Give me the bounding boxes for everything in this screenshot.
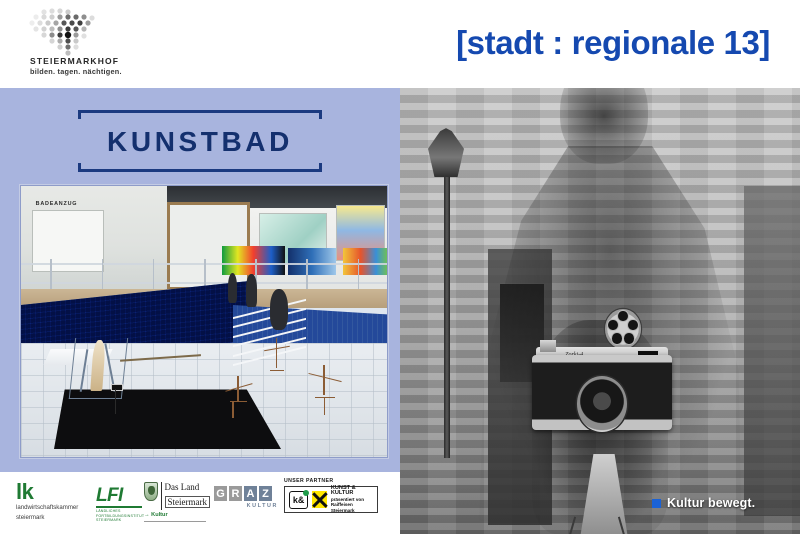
page-header: STEIERMARKHOF bilden. tagen. nächtigen. … (0, 0, 800, 88)
graz-letter-boxes: G R A Z (214, 486, 278, 501)
railing-post (102, 259, 104, 292)
lfi-rule (96, 506, 142, 508)
kunst-und-kultur-mark: k& (289, 491, 308, 509)
raiffeisen-gable-cross-icon (312, 491, 327, 508)
lk-wordmark: lk (16, 482, 102, 502)
logo-wordmark: STEIERMARKHOF (30, 56, 119, 66)
visitor-figure (246, 274, 257, 307)
camera-turret-viewfinder-icon (605, 309, 641, 349)
vintage-camera: Zorki-4 (532, 320, 672, 454)
visitor-figure (270, 289, 288, 330)
graz-letter-r: R (229, 486, 242, 501)
partner-box: k& KUNST & KULTUR präsentiert von Raiffe… (284, 486, 378, 513)
bird-sculpture (222, 376, 255, 419)
music-stand (111, 384, 121, 414)
partner-line-3: Raiffeisen Steiermark (331, 502, 373, 513)
styrian-panther-crest-icon (144, 482, 158, 501)
blue-square-icon (652, 499, 661, 508)
steiermarkhof-logo: STEIERMARKHOF bilden. tagen. nächtigen. (24, 6, 136, 80)
bird-sculpture (263, 338, 292, 387)
heading-rule-bottom (78, 169, 322, 172)
camera-lens-icon (577, 376, 627, 432)
graz-letter-g: G (214, 486, 227, 501)
poster-page: STEIERMARKHOF bilden. tagen. nächtigen. … (0, 0, 800, 534)
logo-graz-kultur: G R A Z KULTUR (214, 486, 278, 520)
partner-line-1: KUNST & KULTUR (331, 486, 373, 497)
left-blue-panel: KUNSTBAD BADEANZUG (0, 88, 400, 472)
heading-cap-bottom-left (78, 163, 81, 172)
camera-model-name: Zorki-4 (565, 352, 623, 354)
land-kultur-label: → Kultur (144, 512, 210, 518)
land-rule (144, 521, 206, 522)
heading-cap-bottom-right (319, 163, 322, 172)
logo-das-land-steiermark: Das Land Steiermark → Kultur (144, 482, 210, 524)
land-logo-row: Das Land Steiermark (144, 482, 210, 510)
pool-photo-content: BADEANZUG (21, 186, 387, 457)
graz-kultur-label: KULTUR (214, 503, 278, 509)
railing-post (153, 259, 155, 292)
kultur-bewegt-label: Kultur bewegt. (667, 496, 755, 510)
dot-matrix-styria-map-icon (24, 6, 136, 56)
railing-post (50, 259, 52, 292)
footer-sponsor-bar: lk landwirtschaftskammer steiermark LFI … (0, 472, 400, 534)
land-line-1: Das Land (165, 482, 211, 492)
railing-post (306, 259, 308, 292)
kunstbad-heading: KUNSTBAD (78, 110, 322, 172)
graz-letter-z: Z (259, 486, 272, 501)
kultur-bewegt-badge: Kultur bewegt. (652, 494, 755, 512)
land-line-2: Steiermark (165, 496, 211, 508)
camera-rewind-dial (540, 340, 555, 352)
kunstbad-pool-photo: BADEANZUG (20, 185, 388, 458)
page-title: [stadt : regionale 13] (440, 18, 770, 68)
logo-landwirtschaftskammer: lk landwirtschaftskammer steiermark (16, 482, 102, 524)
lk-subline-1: landwirtschaftskammer (16, 504, 102, 512)
railing-post (358, 259, 360, 292)
logo-unser-partner: UNSER PARTNER k& KUNST & KULTUR präsenti… (284, 478, 388, 526)
lk-subline-2: steiermark (16, 514, 102, 522)
photographer-bw-photo: Zorki-4 Kultur bewegt. (400, 88, 800, 534)
land-logo-text: Das Land Steiermark (161, 482, 211, 510)
partner-text-block: KUNST & KULTUR präsentiert von Raiffeise… (331, 486, 373, 514)
bird-sculpture (306, 365, 343, 416)
visitor-figure (228, 273, 238, 303)
unser-partner-label: UNSER PARTNER (284, 478, 388, 484)
logo-tagline: bilden. tagen. nächtigen. (30, 67, 122, 76)
badeanzug-wall-label: BADEANZUG (36, 201, 78, 207)
kunstbad-label: KUNSTBAD (78, 110, 322, 172)
graz-letter-a: A (244, 486, 257, 501)
